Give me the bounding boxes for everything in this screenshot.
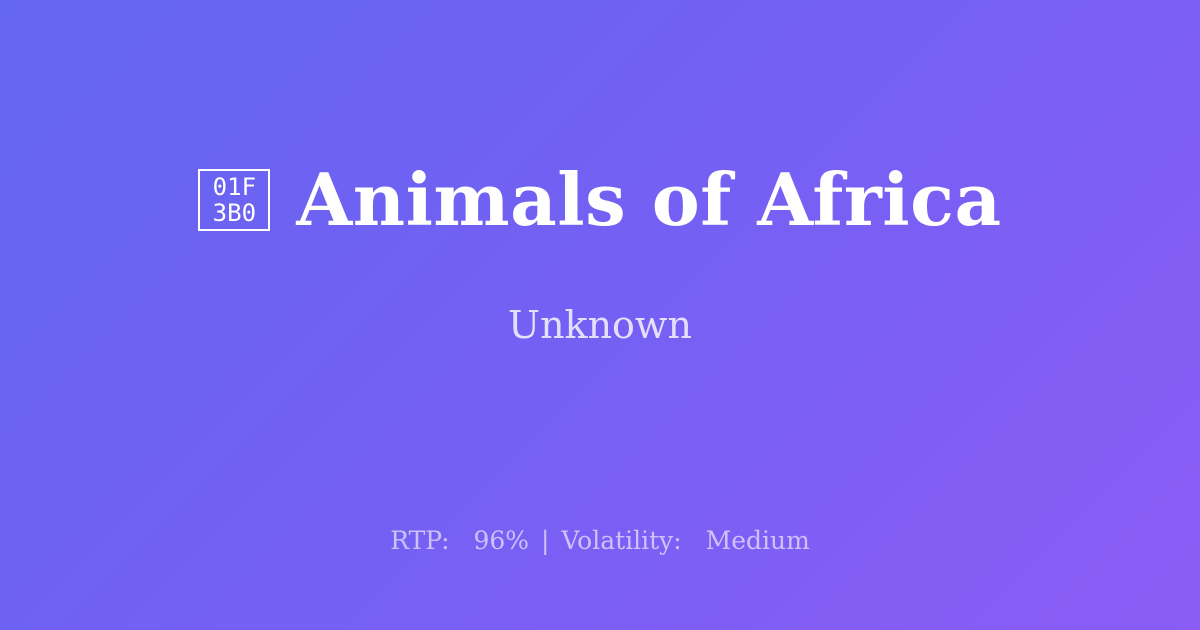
hero-section: 01F 3B0 Animals of Africa Unknown (0, 0, 1200, 505)
game-stats-line: RTP: 96% | Volatility: Medium (390, 525, 810, 557)
stats-separator: | (537, 526, 553, 555)
game-preview-card: 01F 3B0 Animals of Africa Unknown RTP: 9… (0, 0, 1200, 630)
volatility-label: Volatility: (561, 526, 681, 555)
volatility-value: Medium (706, 526, 810, 555)
rtp-label: RTP: (390, 526, 449, 555)
footer-section: RTP: 96% | Volatility: Medium (0, 525, 1200, 557)
title-row: 01F 3B0 Animals of Africa (198, 159, 1001, 241)
page-title: Animals of Africa (296, 159, 1001, 241)
tofu-hex-row-top: 01F (213, 174, 256, 200)
tofu-hex-row-bottom: 3B0 (213, 200, 256, 226)
slot-machine-icon: 01F 3B0 (198, 169, 270, 231)
provider-subtitle: Unknown (508, 303, 692, 347)
rtp-value: 96% (473, 526, 529, 555)
